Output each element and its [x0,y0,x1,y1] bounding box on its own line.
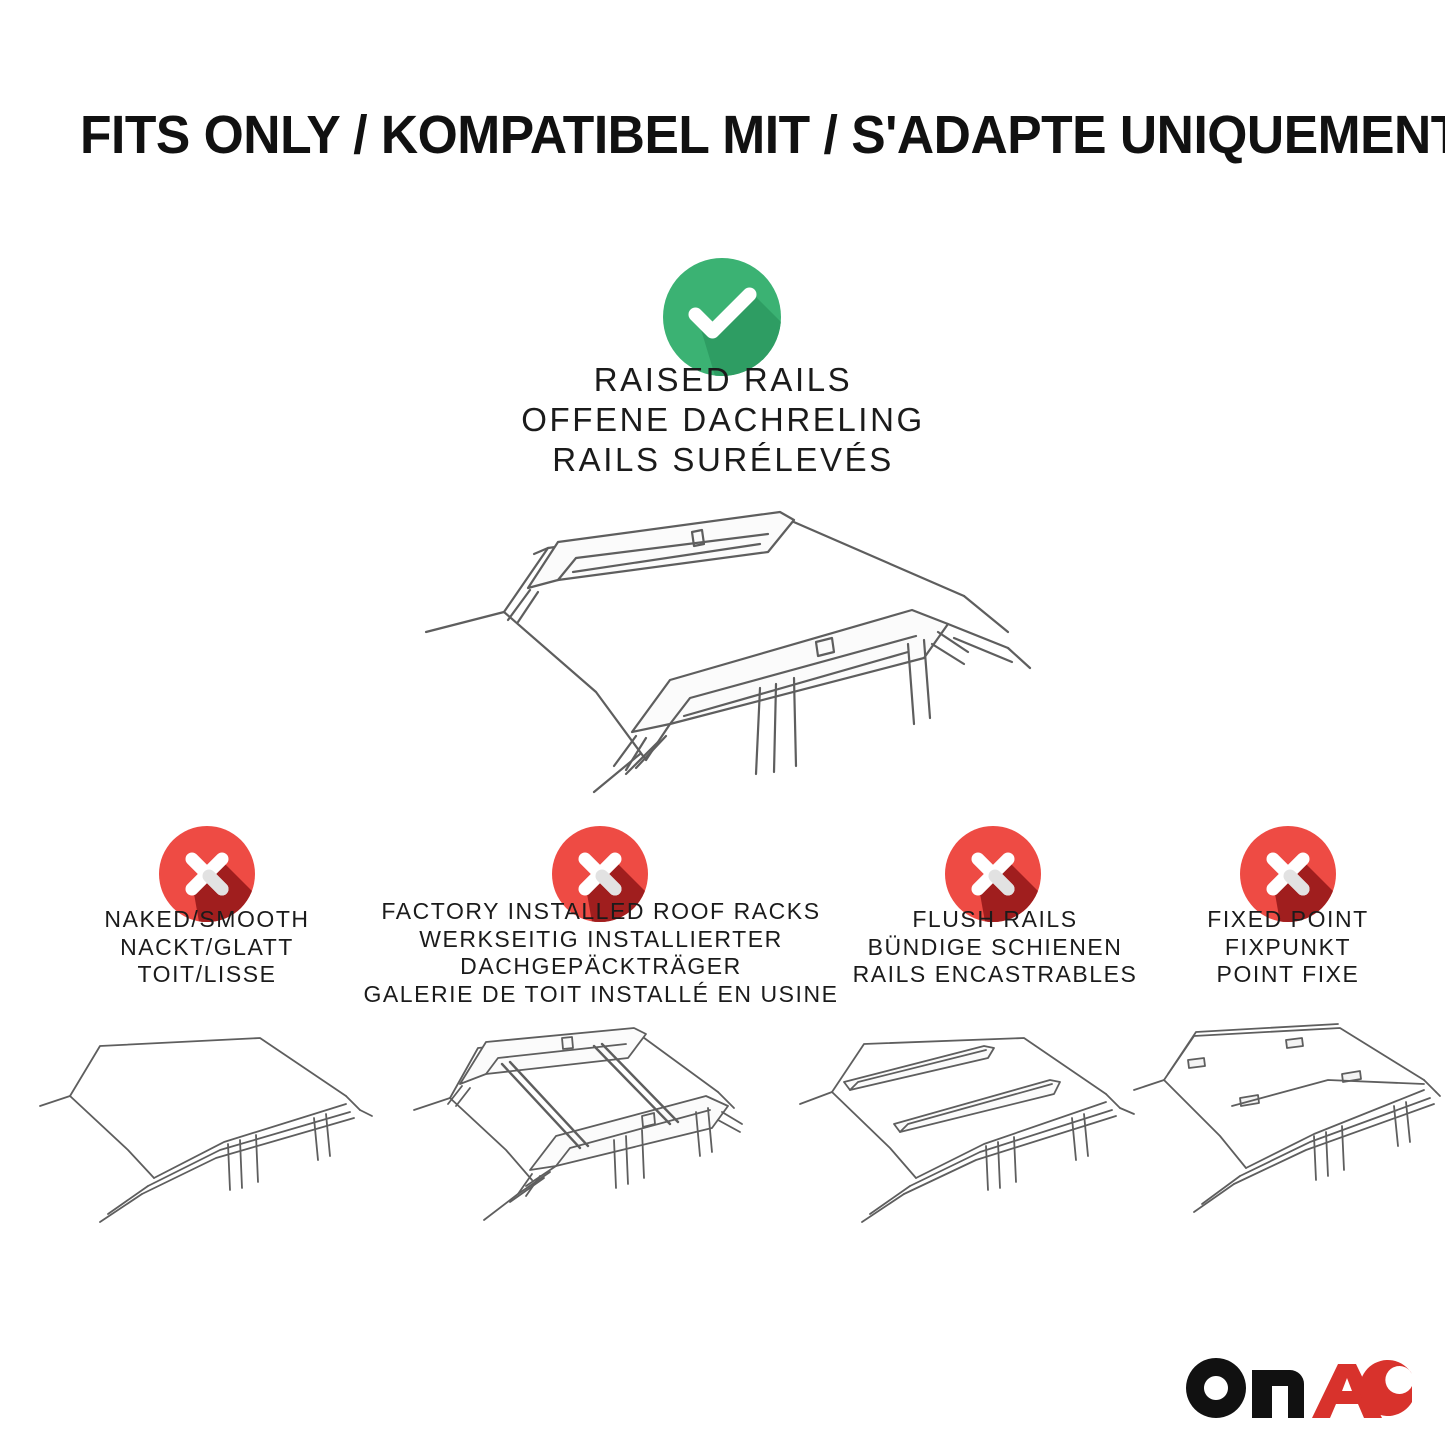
infographic-page: FITS ONLY / KOMPATIBEL MIT / S'ADAPTE UN… [0,0,1445,1445]
compatible-label-line-3: RAILS SURÉLEVÉS [423,440,1023,480]
label-line-4: GALERIE DE TOIT INSTALLÉ EN USINE [356,981,846,1009]
incompatible-label-factory-roof-racks: FACTORY INSTALLED ROOF RACKS WERKSEITIG … [356,898,846,1008]
label-line-2: BÜNDIGE SCHIENEN [820,934,1170,962]
car-roof-flush-rails-illustration [788,1018,1140,1248]
compatible-label-line-1: RAISED RAILS [423,360,1023,400]
incompatible-label-naked-smooth: NAKED/SMOOTH NACKT/GLATT TOIT/LISSE [40,906,374,989]
incompatible-label-flush-rails: FLUSH RAILS BÜNDIGE SCHIENEN RAILS ENCAS… [820,906,1170,989]
label-line-1: FIXED POINT [1160,906,1416,934]
label-line-1: FLUSH RAILS [820,906,1170,934]
car-roof-raised-rails-illustration [408,492,1048,802]
car-roof-factory-roof-racks-illustration [398,1018,758,1248]
label-line-2: WERKSEITIG INSTALLIERTER [356,926,846,954]
check-circle-icon [663,258,781,376]
label-line-3: POINT FIXE [1160,961,1416,989]
omac-logo: OMAC [1186,1356,1414,1420]
car-roof-fixed-point-illustration [1128,1018,1440,1248]
label-line-3: RAILS ENCASTRABLES [820,961,1170,989]
label-line-3: DACHGEPÄCKTRÄGER [356,953,846,981]
label-line-3: TOIT/LISSE [40,961,374,989]
car-roof-naked-smooth-illustration [28,1018,378,1248]
compatible-label-line-2: OFFENE DACHRELING [423,400,1023,440]
label-line-2: NACKT/GLATT [40,934,374,962]
label-line-2: FIXPUNKT [1160,934,1416,962]
incompatible-label-fixed-point: FIXED POINT FIXPUNKT POINT FIXE [1160,906,1416,989]
label-line-1: FACTORY INSTALLED ROOF RACKS [356,898,846,926]
label-line-1: NAKED/SMOOTH [40,906,374,934]
page-title: FITS ONLY / KOMPATIBEL MIT / S'ADAPTE UN… [80,104,1312,166]
compatible-label: RAISED RAILS OFFENE DACHRELING RAILS SUR… [423,360,1023,480]
